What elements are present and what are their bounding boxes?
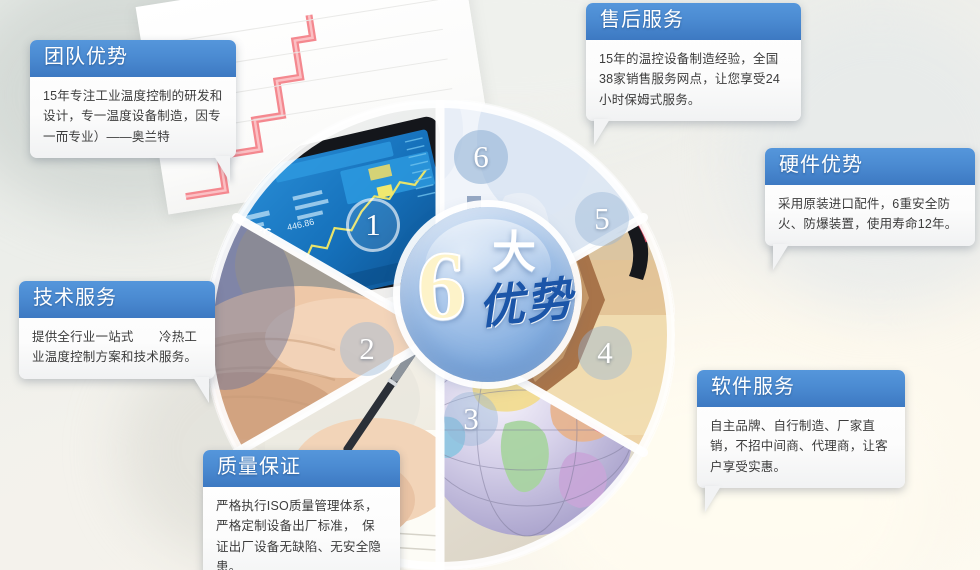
callout-software-title: 软件服务 (697, 370, 905, 407)
segment-number-6[interactable]: 6 (454, 130, 508, 184)
callout-team[interactable]: 团队优势 15年专注工业温度控制的研发和设计，专一温度设备制造，因专一而专业）—… (30, 40, 236, 158)
segment-number-4[interactable]: 4 (578, 326, 632, 380)
callout-quality[interactable]: 质量保证 严格执行ISO质量管理体系，严格定制设备出厂标准， 保证出厂设备无缺陷… (203, 450, 400, 570)
center-badge: 6 大 优势 (400, 207, 575, 382)
callout-technical-tail (193, 377, 209, 403)
segment-number-3[interactable]: 3 (444, 392, 498, 446)
callout-technical-title: 技术服务 (19, 281, 215, 318)
center-number: 6 (417, 237, 466, 335)
segment-number-5[interactable]: 5 (575, 192, 629, 246)
callout-hardware[interactable]: 硬件优势 采用原装进口配件，6重安全防火、防爆装置，使用寿命12年。 (765, 148, 975, 246)
center-script-word: 优势 (476, 276, 576, 332)
segment-number-2[interactable]: 2 (340, 322, 394, 376)
callout-team-tail (214, 156, 230, 182)
callout-team-title: 团队优势 (30, 40, 236, 77)
callout-quality-body: 严格执行ISO质量管理体系，严格定制设备出厂标准， 保证出厂设备无缺陷、无安全隐… (203, 487, 400, 570)
segment-number-1[interactable]: 1 (346, 198, 400, 252)
callout-software[interactable]: 软件服务 自主品牌、自行制造、厂家直销，不招中间商、代理商，让客户享受实惠。 (697, 370, 905, 488)
callout-after-sales-tail (594, 119, 610, 145)
callout-after-sales[interactable]: 售后服务 15年的温控设备制造经验，全国38家销售服务网点，让您享受24小时保姆… (586, 3, 801, 121)
callout-quality-title: 质量保证 (203, 450, 400, 487)
callout-after-sales-title: 售后服务 (586, 3, 801, 40)
callout-hardware-title: 硬件优势 (765, 148, 975, 185)
center-big-word: 大 (492, 231, 536, 275)
callout-after-sales-body: 15年的温控设备制造经验，全国38家销售服务网点，让您享受24小时保姆式服务。 (586, 40, 801, 121)
callout-software-body: 自主品牌、自行制造、厂家直销，不招中间商、代理商，让客户享受实惠。 (697, 407, 905, 488)
callout-technical-body: 提供全行业一站式 冷热工业温度控制方案和技术服务。 (19, 318, 215, 379)
infographic-canvas: INTC 446.86 (0, 0, 980, 570)
callout-software-tail (705, 486, 721, 512)
callout-hardware-tail (773, 244, 789, 270)
callout-team-body: 15年专注工业温度控制的研发和设计，专一温度设备制造，因专一而专业）——奥兰特 (30, 77, 236, 158)
callout-technical[interactable]: 技术服务 提供全行业一站式 冷热工业温度控制方案和技术服务。 (19, 281, 215, 379)
callout-hardware-body: 采用原装进口配件，6重安全防火、防爆装置，使用寿命12年。 (765, 185, 975, 246)
